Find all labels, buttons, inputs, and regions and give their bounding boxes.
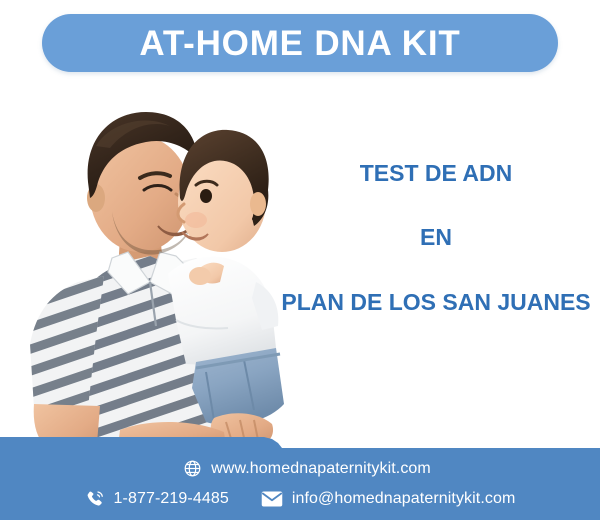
headline-line-1: TEST DE ADN xyxy=(276,160,596,186)
headline-line-3: PLAN DE LOS SAN JUANES xyxy=(276,289,596,315)
banner: AT-HOME DNA KIT xyxy=(42,14,558,72)
phone-label[interactable]: 1-877-219-4485 xyxy=(114,490,229,508)
website-label[interactable]: www.homednapaternitykit.com xyxy=(211,460,431,478)
headline-line-2: EN xyxy=(276,224,596,250)
email-label[interactable]: info@homednapaternitykit.com xyxy=(292,490,516,508)
footer-contact-info: www.homednapaternitykit.com 1-877-219-44… xyxy=(0,437,600,520)
globe-icon xyxy=(183,459,202,478)
banner-title: AT-HOME DNA KIT xyxy=(139,26,460,61)
promo-card: AT-HOME DNA KIT xyxy=(0,0,600,520)
phone-icon xyxy=(85,489,105,509)
footer-website-row: www.homednapaternitykit.com xyxy=(0,459,600,478)
envelope-icon xyxy=(261,490,283,508)
footer-contact-row: 1-877-219-4485 info@homednapaternitykit.… xyxy=(0,489,600,509)
headline-block: TEST DE ADN EN PLAN DE LOS SAN JUANES xyxy=(276,160,596,315)
